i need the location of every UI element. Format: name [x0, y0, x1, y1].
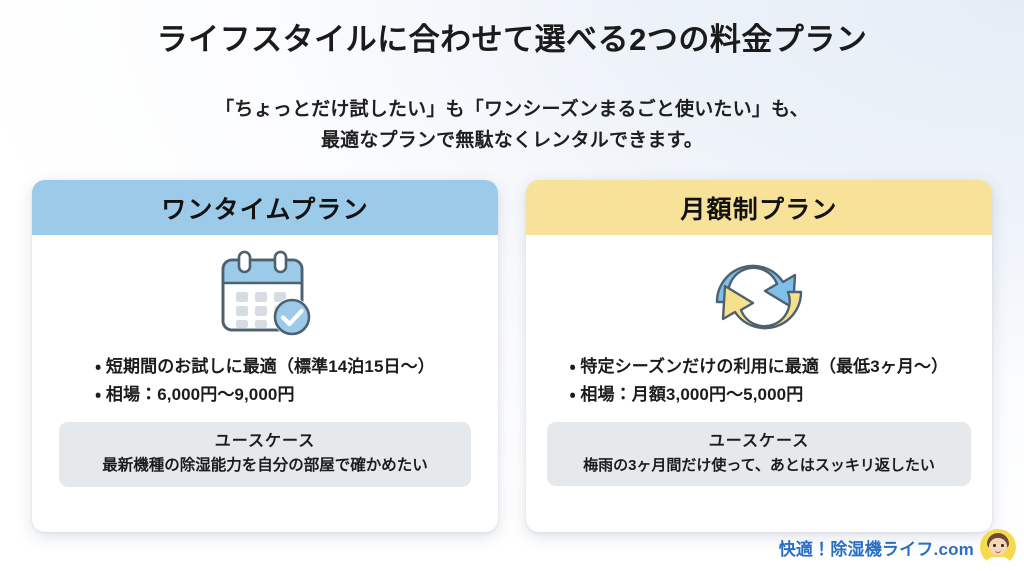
page-title: ライフスタイルに合わせて選べる2つの料金プラン: [0, 22, 1024, 59]
bullet-list: ・ 特定シーズンだけの利用に最適（最低3ヶ月〜） ・ 相場：月額3,000円〜5…: [570, 353, 949, 408]
plan-card-onetime[interactable]: ワンタイムプラン: [32, 180, 498, 532]
list-item: ・ 短期間のお試しに最適（標準14泊15日〜）: [95, 353, 435, 381]
plan-card-monthly-icon-wrap: [709, 235, 809, 353]
site-watermark-text: 快適！除湿機ライフ.com: [779, 535, 974, 560]
subtitle-line-2: 最適なプランで無駄なくレンタルできます。: [0, 126, 1024, 157]
avatar: [980, 529, 1016, 565]
list-item: ・ 相場：6,000円〜9,000円: [95, 381, 435, 409]
calendar-check-icon: [213, 246, 317, 342]
plan-cards-container: ワンタイムプラン: [32, 180, 992, 532]
refresh-cycle-icon: [709, 246, 809, 342]
bullet-list: ・ 短期間のお試しに最適（標準14泊15日〜） ・ 相場：6,000円〜9,00…: [95, 353, 435, 408]
plan-card-onetime-header: ワンタイムプラン: [32, 180, 498, 235]
plan-card-onetime-usecase: ユースケース 最新機種の除湿能力を自分の部屋で確かめたい: [59, 422, 471, 487]
usecase-text: 梅雨の3ヶ月間だけ使って、あとはスッキリ返したい: [555, 456, 963, 476]
usecase-label: ユースケース: [67, 431, 463, 453]
plan-card-monthly-usecase: ユースケース 梅雨の3ヶ月間だけ使って、あとはスッキリ返したい: [547, 422, 971, 486]
subtitle-line-1: 「ちょっとだけ試したい」も「ワンシーズンまるごと使いたい」も、: [0, 95, 1024, 126]
usecase-label: ユースケース: [555, 431, 963, 453]
plan-card-onetime-title: ワンタイムプラン: [161, 190, 369, 226]
plan-card-onetime-icon-wrap: [213, 235, 317, 353]
list-item: ・ 相場：月額3,000円〜5,000円: [570, 381, 949, 409]
plan-card-monthly-body: ・ 特定シーズンだけの利用に最適（最低3ヶ月〜） ・ 相場：月額3,000円〜5…: [526, 235, 992, 532]
site-watermark[interactable]: 快適！除湿機ライフ.com: [779, 529, 1016, 565]
avatar-eye-right: [1001, 544, 1004, 547]
usecase-text: 最新機種の除湿能力を自分の部屋で確かめたい: [67, 456, 463, 476]
plan-card-monthly-bullets: ・ 特定シーズンだけの利用に最適（最低3ヶ月〜） ・ 相場：月額3,000円〜5…: [544, 353, 974, 408]
page-subtitle: 「ちょっとだけ試したい」も「ワンシーズンまるごと使いたい」も、 最適なプランで無…: [0, 95, 1024, 157]
plan-card-onetime-body: ・ 短期間のお試しに最適（標準14泊15日〜） ・ 相場：6,000円〜9,00…: [32, 235, 498, 532]
plan-card-monthly-header: 月額制プラン: [526, 180, 992, 235]
avatar-body: [985, 557, 1011, 565]
avatar-eye-left: [993, 544, 996, 547]
plan-card-monthly[interactable]: 月額制プラン ・ 特定シーズンだけの利用に最適（最低3ヶ月〜） ・ 相場：月額3…: [526, 180, 992, 532]
slide-canvas: ライフスタイルに合わせて選べる2つの料金プラン 「ちょっとだけ試したい」も「ワン…: [0, 0, 1024, 571]
plan-card-onetime-bullets: ・ 短期間のお試しに最適（標準14泊15日〜） ・ 相場：6,000円〜9,00…: [50, 353, 480, 408]
list-item: ・ 特定シーズンだけの利用に最適（最低3ヶ月〜）: [570, 353, 949, 381]
plan-card-monthly-title: 月額制プラン: [680, 190, 837, 226]
